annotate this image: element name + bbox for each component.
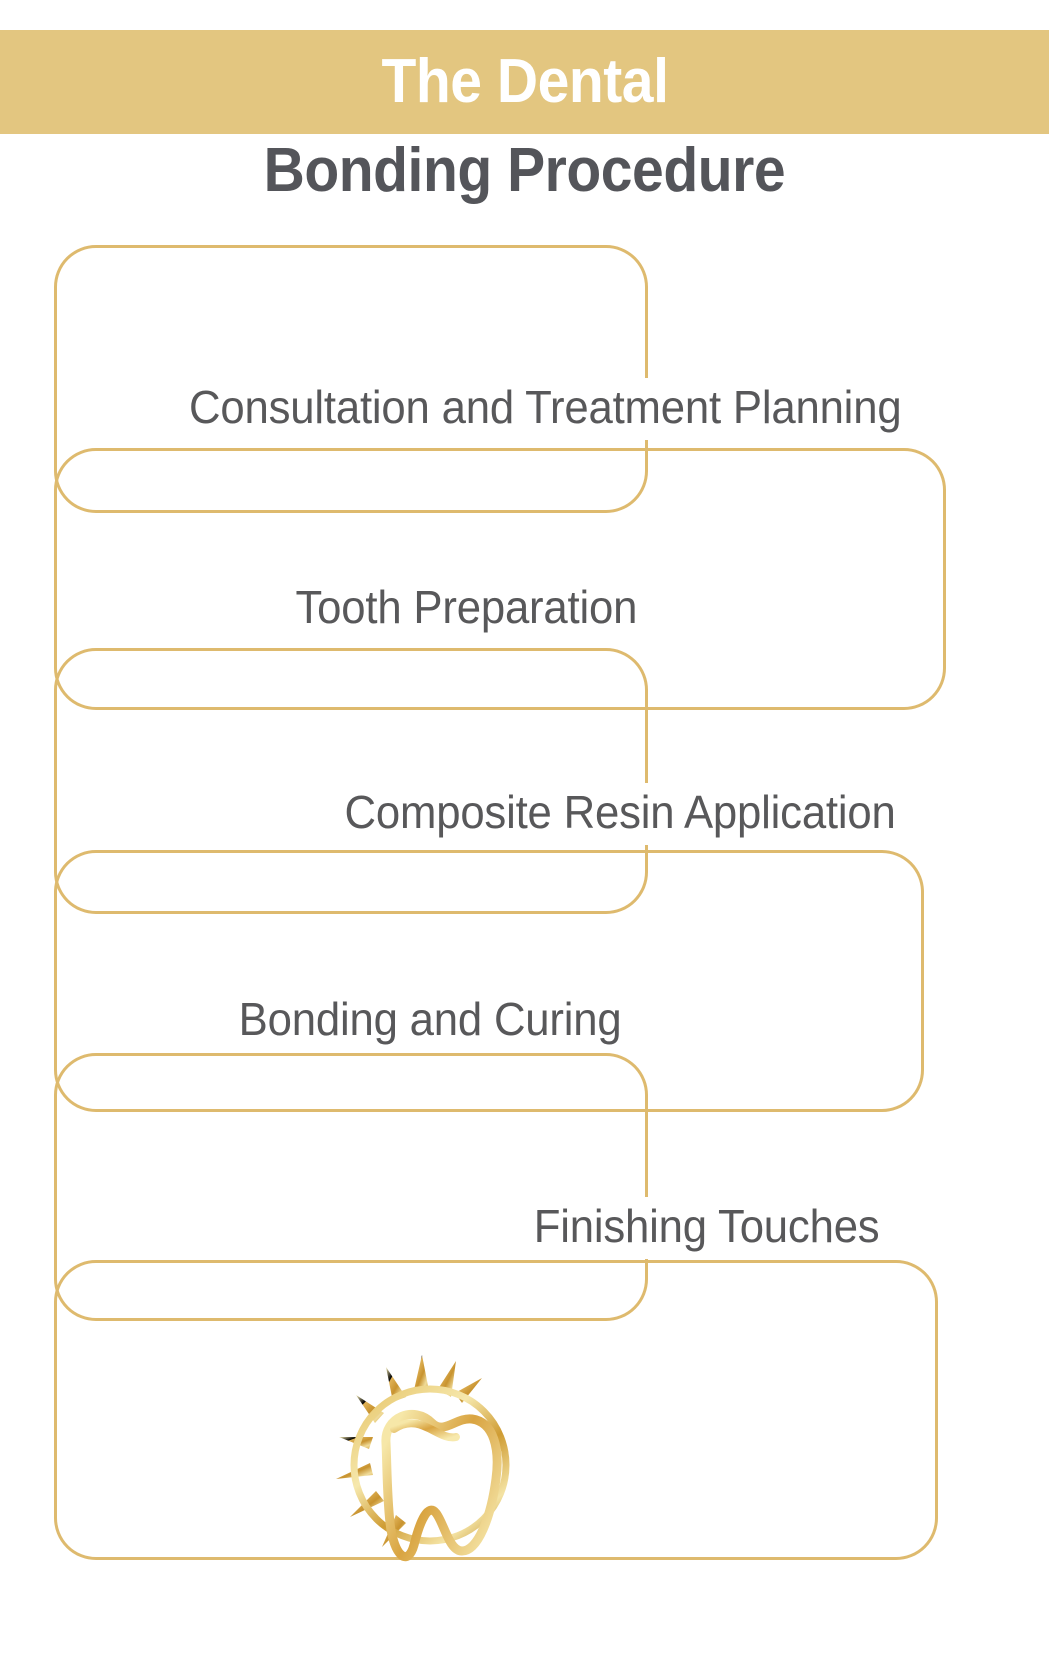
flow-box-3 (54, 648, 648, 914)
step-5-text: Finishing Touches (534, 1200, 880, 1252)
step-label-4: Bonding and Curing (229, 990, 631, 1052)
step-label-2: Tooth Preparation (286, 578, 647, 640)
header-band: The Dental (0, 30, 1049, 134)
step-label-3: Composite Resin Application (335, 783, 905, 845)
step-label-5: Finishing Touches (524, 1197, 889, 1259)
page-title-line2: Bonding Procedure (0, 140, 1049, 202)
sunburst-tooth-logo (310, 1345, 550, 1575)
step-4-text: Bonding and Curing (239, 993, 622, 1045)
page-title-line1: The Dental (381, 51, 668, 113)
step-label-1: Consultation and Treatment Planning (180, 378, 911, 440)
step-3-text: Composite Resin Application (344, 786, 895, 838)
infographic-root: The Dental Bonding Procedure Consultatio… (0, 0, 1049, 1654)
flow-box-4 (54, 850, 924, 1112)
step-2-text: Tooth Preparation (296, 581, 638, 633)
page-title-line2-text: Bonding Procedure (264, 140, 785, 202)
flow-box-5 (54, 1053, 648, 1321)
step-1-text: Consultation and Treatment Planning (189, 381, 901, 433)
